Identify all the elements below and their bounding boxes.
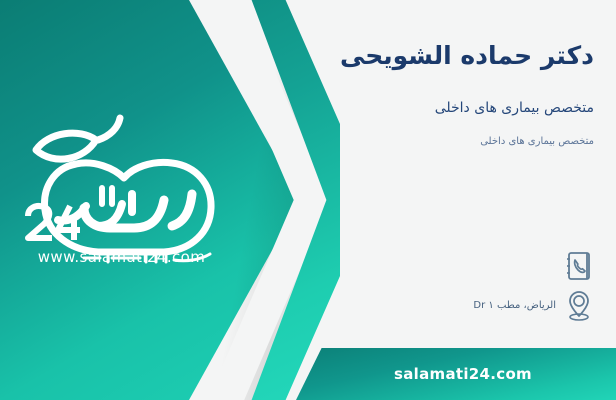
apple-stem (98, 118, 120, 140)
phone-book-icon (564, 250, 594, 284)
apple-leaf (36, 133, 96, 159)
logo-word-alef (172, 194, 192, 226)
doctor-name: دکتر حماده الشویحی (174, 40, 594, 73)
logo-word-meem (98, 204, 122, 226)
logo-website-url: www.salamati24.com (14, 248, 229, 266)
logo-word-te-dots (102, 188, 112, 204)
contact-address-row[interactable]: الریاض، مطب ۱ Dr (473, 288, 594, 322)
doctor-specialty-secondary: متخصص بیماری های داخلی (174, 134, 594, 149)
doctor-specialty-primary: متخصص بیماری های داخلی (174, 98, 594, 119)
contact-phone-row[interactable] (556, 250, 594, 284)
map-pin-icon (564, 288, 594, 322)
contact-address-label: الریاض، مطب ۱ Dr (473, 300, 556, 311)
doctor-profile-card: www.salamati24.com دکتر حماده الشویحی مت… (0, 0, 616, 400)
logo-badge-2 (28, 206, 52, 238)
footer-website-url[interactable]: salamati24.com (296, 348, 616, 400)
